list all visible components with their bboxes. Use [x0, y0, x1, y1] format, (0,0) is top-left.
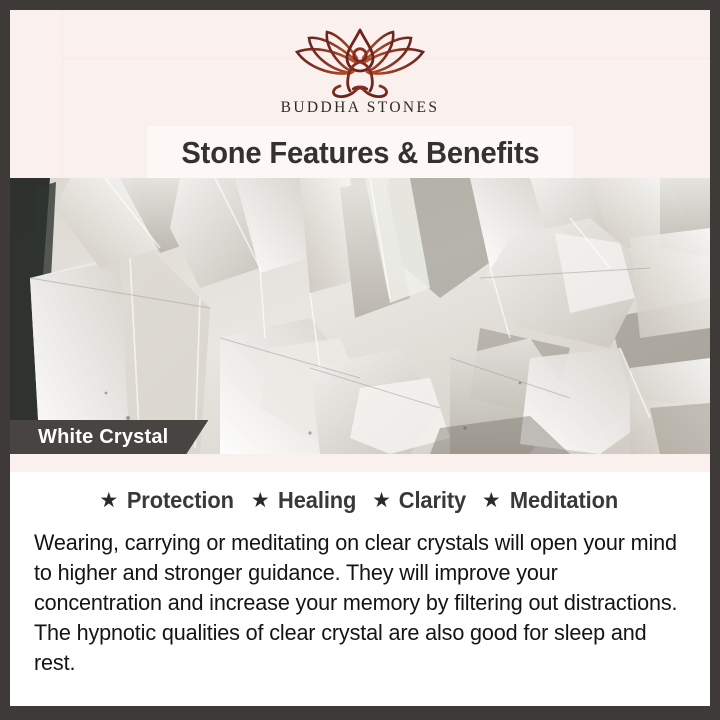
poster-sheet: BUDDHA STONES Stone Features & Benefits: [10, 10, 710, 706]
stone-description: Wearing, carrying or meditating on clear…: [34, 528, 686, 678]
crystal-photo: White Crystal: [10, 178, 710, 454]
stone-name-tag: White Crystal: [10, 420, 208, 454]
separator-band: [10, 454, 710, 472]
star-icon: ★: [482, 490, 501, 511]
benefits-card: ★ Protection ★ Healing ★ Clarity ★ Medit…: [10, 472, 710, 706]
stone-name-label: White Crystal: [38, 426, 168, 449]
benefits-row: ★ Protection ★ Healing ★ Clarity ★ Medit…: [10, 472, 710, 522]
frame-border-bottom: [0, 706, 720, 720]
star-icon: ★: [251, 490, 270, 511]
crystal-photo-image: [10, 178, 710, 454]
benefit-label: Healing: [278, 487, 356, 514]
benefit-label: Meditation: [510, 487, 618, 514]
frame-border-left: [0, 10, 10, 720]
brand-header: BUDDHA STONES: [10, 10, 710, 122]
benefit-label: Protection: [127, 487, 234, 514]
benefit-item-healing: ★ Healing: [251, 487, 358, 514]
poster: BUDDHA STONES Stone Features & Benefits: [0, 0, 720, 720]
lotus-meditation-icon: [285, 26, 435, 98]
benefit-item-clarity: ★ Clarity: [372, 487, 468, 514]
page-title: Stone Features & Benefits: [181, 135, 539, 171]
star-icon: ★: [372, 490, 391, 511]
benefit-label: Clarity: [399, 487, 466, 514]
frame-border-right: [710, 0, 720, 720]
brand-name: BUDDHA STONES: [281, 99, 440, 117]
benefit-item-protection: ★ Protection: [99, 487, 237, 514]
star-icon: ★: [99, 490, 118, 511]
title-banner: Stone Features & Benefits: [148, 127, 572, 179]
benefit-item-meditation: ★ Meditation: [482, 487, 621, 514]
frame-border-top: [0, 0, 720, 10]
